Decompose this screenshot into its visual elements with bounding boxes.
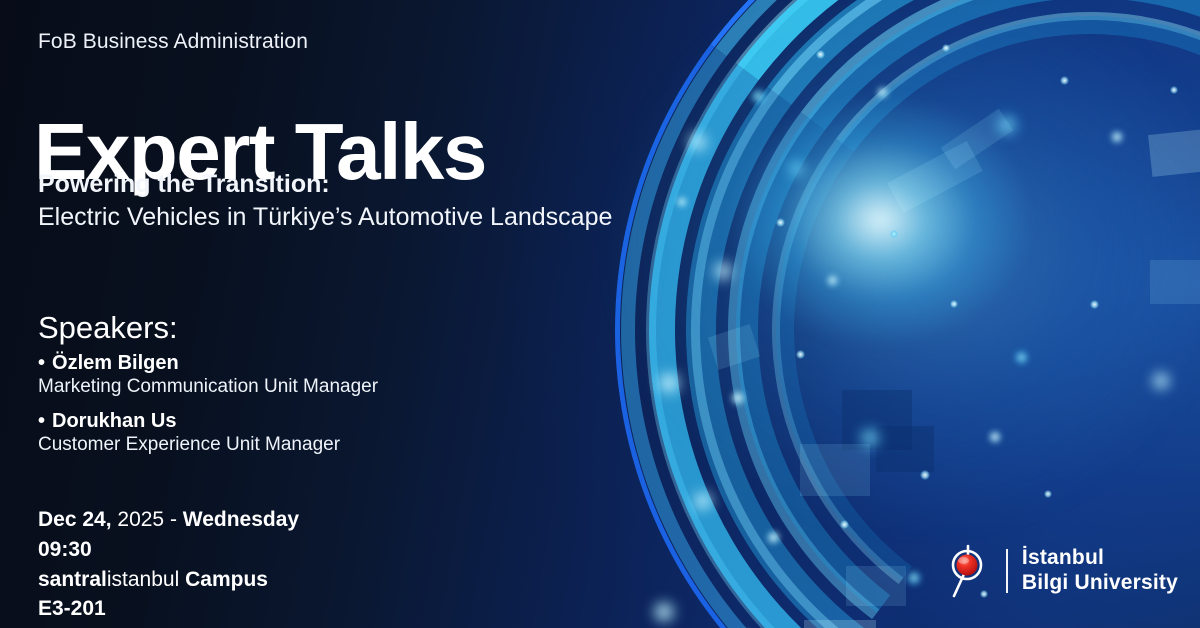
talk-subtitle-lead: Powering the Transition: <box>38 168 638 201</box>
event-time: 09:30 <box>38 538 92 561</box>
arc-ring-8 <box>690 0 1200 628</box>
bokeh-dot <box>686 130 710 154</box>
speaker-name-row: •Dorukhan Us <box>38 410 578 433</box>
bokeh-dot <box>690 490 716 512</box>
venue-santral: santral <box>38 568 107 591</box>
venue-campus: Campus <box>179 568 268 591</box>
bokeh-dot <box>766 530 781 545</box>
bokeh-dot <box>776 218 785 227</box>
bokeh-dot <box>994 114 1020 136</box>
arc-ring-9 <box>731 0 1200 628</box>
event-weekday: Wednesday <box>183 508 299 531</box>
event-venue-row: santralistanbul Campus <box>38 565 299 595</box>
department-kicker: FoB Business Administration <box>38 30 308 54</box>
bokeh-dot <box>920 470 930 480</box>
bokeh-dot <box>890 230 898 238</box>
bokeh-dot <box>988 430 1002 444</box>
tech-panel <box>842 390 912 450</box>
bokeh-dot <box>1170 86 1178 94</box>
event-poster: FoB Business Administration Expert Talks… <box>0 0 1200 628</box>
bokeh-dot <box>710 260 736 282</box>
bokeh-dot <box>786 160 808 178</box>
arc-outer-glow <box>610 0 1200 530</box>
bokeh-dot <box>730 390 746 406</box>
bokeh-dot <box>750 88 767 105</box>
bokeh-dot <box>1150 370 1172 392</box>
arc-hotspot-glow <box>730 95 1030 345</box>
logo-wordmark: İstanbul Bilgi University <box>1022 546 1178 596</box>
tech-panel <box>800 444 870 496</box>
bullet-icon: • <box>38 352 45 374</box>
event-date: Dec 24, <box>38 508 112 531</box>
logo-line-1: İstanbul <box>1022 546 1178 571</box>
event-date-row: Dec 24, 2025 - Wednesday <box>38 505 299 535</box>
bokeh-dot <box>1090 300 1099 309</box>
arc-ring-7 <box>681 0 1200 628</box>
speaker-name: Dorukhan Us <box>52 410 176 432</box>
arc-ring-4 <box>592 0 1200 628</box>
arc-ring-5 <box>639 0 1200 628</box>
speaker-item: •Özlem Bilgen Marketing Communication Un… <box>38 352 578 398</box>
logo-line-2: Bilgi University <box>1022 571 1178 596</box>
tech-panel <box>708 324 760 370</box>
tech-panel <box>887 141 982 213</box>
speakers-heading: Speakers: <box>38 310 178 346</box>
bokeh-dot <box>1060 76 1069 85</box>
tech-panel <box>1148 125 1200 177</box>
bokeh-dot <box>858 426 882 450</box>
bokeh-dot <box>1044 490 1052 498</box>
arc-ring-3 <box>589 0 1200 628</box>
bokeh-dot <box>1110 130 1124 144</box>
logo-divider <box>1006 549 1008 593</box>
pin-circle-mark-icon <box>941 542 993 600</box>
speaker-name-row: •Özlem Bilgen <box>38 352 578 375</box>
bokeh-dot <box>826 274 839 287</box>
tech-panel <box>846 566 906 606</box>
arc-ring-10 <box>735 0 1200 628</box>
event-room-row: E3-201 <box>38 594 299 624</box>
bokeh-dot <box>876 86 889 99</box>
speaker-item: •Dorukhan Us Customer Experience Unit Ma… <box>38 410 578 456</box>
poster-text-column: FoB Business Administration Expert Talks… <box>38 0 678 628</box>
bokeh-dot <box>840 520 849 529</box>
university-logo: İstanbul Bilgi University <box>941 542 1178 600</box>
tech-panel <box>804 620 876 628</box>
tech-panel <box>941 109 1014 170</box>
talk-subtitle-rest: Electric Vehicles in Türkiye’s Automotiv… <box>38 201 638 234</box>
arc-ring-6 <box>634 0 1200 628</box>
speaker-role: Customer Experience Unit Manager <box>38 434 578 456</box>
event-details: Dec 24, 2025 - Wednesday 09:30 santralis… <box>38 505 299 624</box>
speaker-name: Özlem Bilgen <box>52 352 179 374</box>
bokeh-dot <box>1014 350 1029 365</box>
bokeh-dot <box>950 300 958 308</box>
bokeh-dot <box>906 570 922 586</box>
glowing-arcs-graphic <box>590 0 1200 628</box>
event-year: 2025 - <box>112 508 183 531</box>
event-room: E3-201 <box>38 597 106 620</box>
bokeh-dot <box>796 350 805 359</box>
venue-istanbul: istanbul <box>107 568 179 591</box>
bullet-icon: • <box>38 410 45 432</box>
bokeh-dot <box>942 44 950 52</box>
talk-subtitle: Powering the Transition: Electric Vehicl… <box>38 168 638 234</box>
tech-panel <box>1150 260 1200 304</box>
bokeh-dot <box>816 50 825 59</box>
tech-panel <box>876 426 934 472</box>
event-time-row: 09:30 <box>38 535 299 565</box>
speaker-role: Marketing Communication Unit Manager <box>38 376 578 398</box>
